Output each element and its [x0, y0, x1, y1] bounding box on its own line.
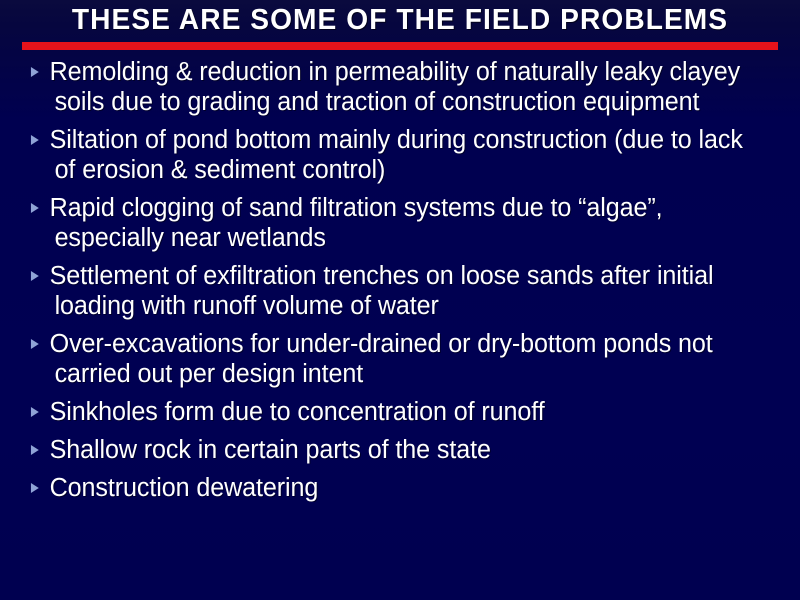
list-item: Sinkholes form due to concentration of r… [26, 397, 767, 427]
slide-title-block: THESE ARE SOME OF THE FIELD PROBLEMS [0, 0, 800, 56]
list-item: Settlement of exfiltration trenches on l… [26, 261, 767, 321]
list-item-text: Sinkholes form due to concentration of r… [50, 397, 767, 427]
title-divider-rule [22, 42, 778, 50]
page-title: THESE ARE SOME OF THE FIELD PROBLEMS [12, 3, 788, 37]
presentation-slide: THESE ARE SOME OF THE FIELD PROBLEMS Rem… [0, 0, 800, 600]
list-item-text: Siltation of pond bottom mainly during c… [50, 125, 767, 185]
bullet-list: Remolding & reduction in permeability of… [26, 57, 778, 511]
list-item: Construction dewatering [26, 473, 767, 503]
list-item-text: Shallow rock in certain parts of the sta… [50, 435, 767, 465]
list-item: Shallow rock in certain parts of the sta… [26, 435, 767, 465]
triangle-right-icon [31, 203, 39, 213]
list-item: Over-excavations for under-drained or dr… [26, 329, 767, 389]
triangle-right-icon [31, 67, 39, 77]
list-item-text: Construction dewatering [50, 473, 767, 503]
triangle-right-icon [31, 445, 39, 455]
list-item-text: Rapid clogging of sand filtration system… [50, 193, 767, 253]
triangle-right-icon [31, 339, 39, 349]
list-item: Remolding & reduction in permeability of… [26, 57, 767, 117]
triangle-right-icon [31, 407, 39, 417]
list-item: Rapid clogging of sand filtration system… [26, 193, 767, 253]
list-item-text: Over-excavations for under-drained or dr… [50, 329, 767, 389]
triangle-right-icon [31, 135, 39, 145]
list-item-text: Settlement of exfiltration trenches on l… [50, 261, 767, 321]
triangle-right-icon [31, 483, 39, 493]
list-item-text: Remolding & reduction in permeability of… [50, 57, 767, 117]
triangle-right-icon [31, 271, 39, 281]
list-item: Siltation of pond bottom mainly during c… [26, 125, 767, 185]
